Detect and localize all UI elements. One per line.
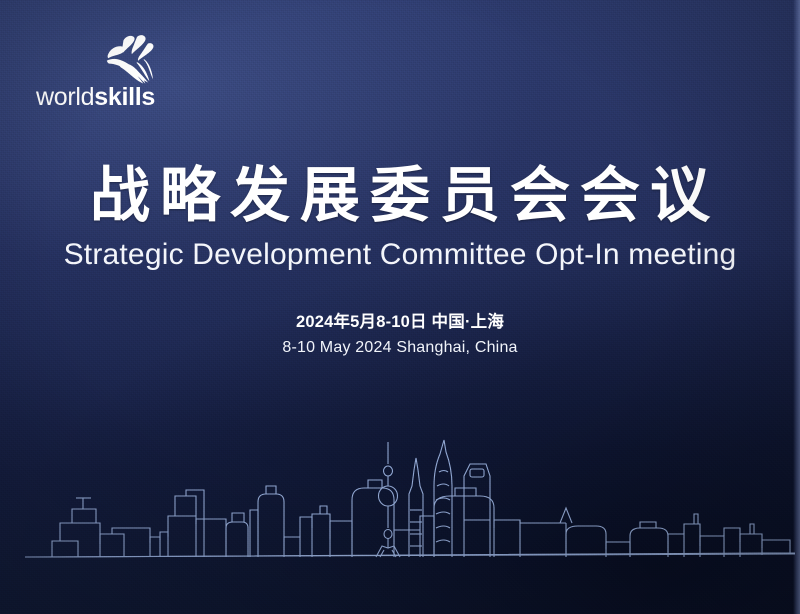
- shanghai-skyline-line-art: [0, 424, 800, 614]
- date-venue-block: 2024年5月8-10日 中国·上海 8-10 May 2024 Shangha…: [0, 310, 800, 360]
- worldskills-hand-icon: [98, 34, 160, 86]
- worldskills-wordmark: worldskills: [36, 82, 155, 112]
- date-venue-chinese: 2024年5月8-10日 中国·上海: [0, 310, 800, 334]
- worldskills-logo: worldskills: [36, 34, 186, 116]
- title-block: 战略发展委员会会议 Strategic Development Committe…: [0, 160, 800, 274]
- title-english: Strategic Development Committee Opt-In m…: [0, 236, 800, 274]
- programme-cover: worldskills 战略发展委员会会议 Strategic Developm…: [0, 0, 800, 614]
- date-venue-english: 8-10 May 2024 Shanghai, China: [0, 336, 800, 360]
- wordmark-world: world: [36, 83, 94, 111]
- title-chinese: 战略发展委员会会议: [0, 160, 800, 232]
- wordmark-skills: skills: [94, 83, 155, 111]
